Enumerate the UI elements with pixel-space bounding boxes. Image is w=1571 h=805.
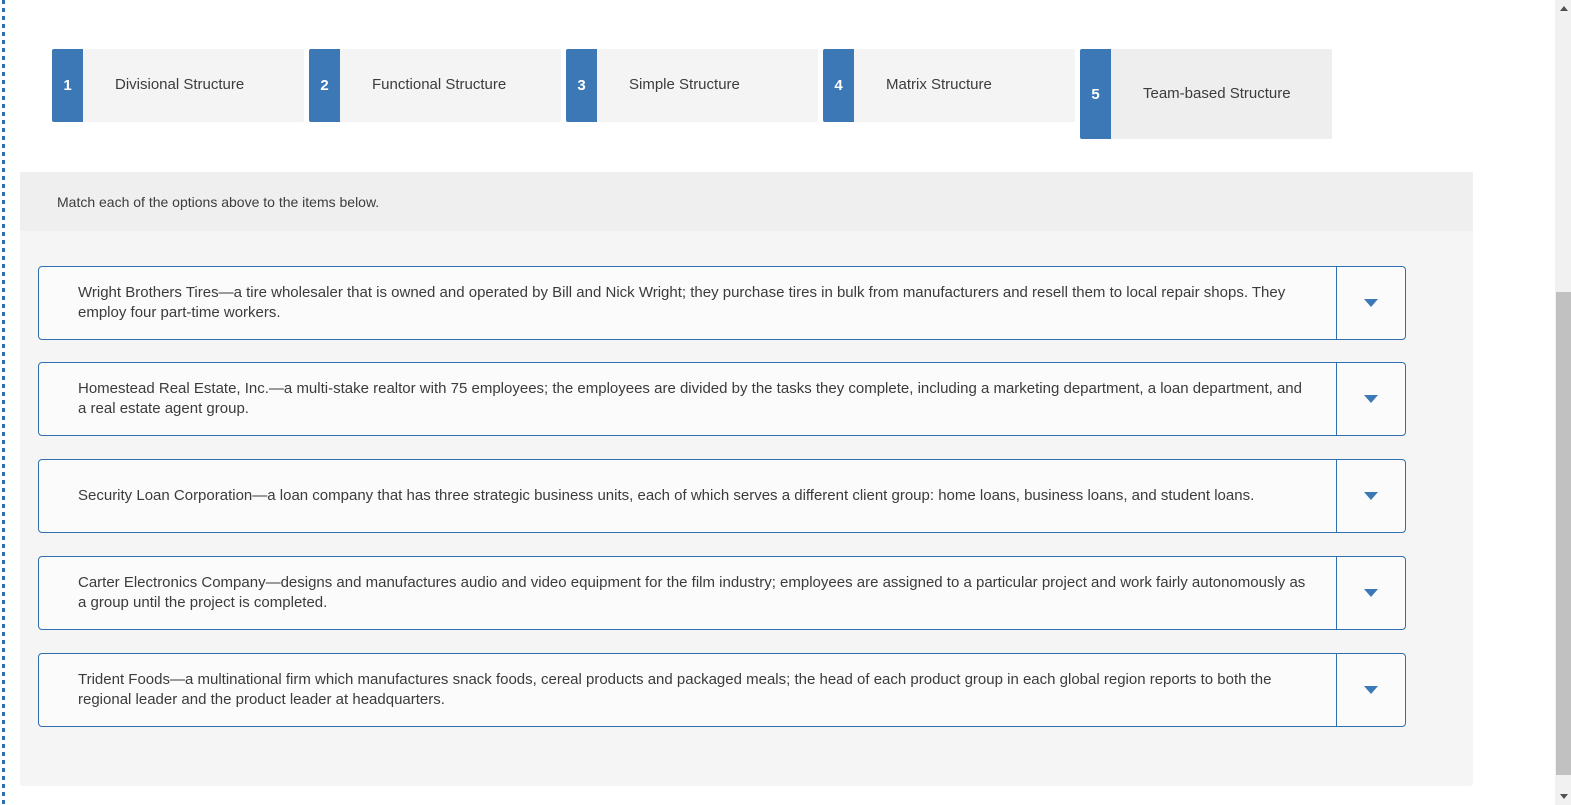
options-strip: 1 Divisional Structure 2 Functional Stru… (52, 49, 1352, 139)
triangle-up-icon (1560, 6, 1568, 11)
option-label-2: Functional Structure (340, 49, 561, 122)
table-row[interactable]: Homestead Real Estate, Inc.—a multi-stak… (38, 362, 1406, 436)
matching-items-panel: Wright Brothers Tires—a tire wholesaler … (20, 231, 1473, 786)
option-chip-1[interactable]: 1 Divisional Structure (52, 49, 304, 122)
option-label-3: Simple Structure (597, 49, 818, 122)
match-dropdown-3[interactable] (1337, 460, 1405, 532)
option-number-badge-5: 5 (1080, 49, 1111, 139)
option-label-5: Team-based Structure (1111, 49, 1332, 139)
match-item-text: Carter Electronics Company—designs and m… (39, 557, 1337, 629)
instruction-text: Match each of the options above to the i… (20, 194, 379, 210)
table-row[interactable]: Trident Foods—a multinational firm which… (38, 653, 1406, 727)
chevron-down-icon (1364, 395, 1378, 403)
match-dropdown-1[interactable] (1337, 267, 1405, 339)
chevron-down-icon (1364, 589, 1378, 597)
option-chip-5[interactable]: 5 Team-based Structure (1080, 49, 1332, 139)
chevron-down-icon (1364, 299, 1378, 307)
option-number-badge-2: 2 (309, 49, 340, 122)
match-dropdown-2[interactable] (1337, 363, 1405, 435)
option-chip-4[interactable]: 4 Matrix Structure (823, 49, 1075, 122)
focus-indicator-rail (2, 0, 5, 805)
match-item-text: Wright Brothers Tires—a tire wholesaler … (39, 267, 1337, 339)
table-row[interactable]: Security Loan Corporation—a loan company… (38, 459, 1406, 533)
chevron-down-icon (1364, 492, 1378, 500)
match-item-text: Security Loan Corporation—a loan company… (39, 460, 1337, 532)
option-number-badge-4: 4 (823, 49, 854, 122)
match-item-text: Homestead Real Estate, Inc.—a multi-stak… (39, 363, 1337, 435)
option-number-badge-3: 3 (566, 49, 597, 122)
option-label-4: Matrix Structure (854, 49, 1075, 122)
option-chip-3[interactable]: 3 Simple Structure (566, 49, 818, 122)
match-dropdown-4[interactable] (1337, 557, 1405, 629)
triangle-down-icon (1560, 794, 1568, 799)
match-dropdown-5[interactable] (1337, 654, 1405, 726)
scroll-down-arrow-icon[interactable] (1555, 788, 1571, 805)
vertical-scrollbar[interactable] (1554, 0, 1571, 805)
table-row[interactable]: Wright Brothers Tires—a tire wholesaler … (38, 266, 1406, 340)
match-item-text: Trident Foods—a multinational firm which… (39, 654, 1337, 726)
table-row[interactable]: Carter Electronics Company—designs and m… (38, 556, 1406, 630)
instruction-bar: Match each of the options above to the i… (20, 172, 1473, 231)
scrollbar-thumb[interactable] (1556, 292, 1571, 775)
question-page: 1 Divisional Structure 2 Functional Stru… (0, 0, 1545, 805)
option-label-1: Divisional Structure (83, 49, 304, 122)
scroll-up-arrow-icon[interactable] (1555, 0, 1571, 17)
chevron-down-icon (1364, 686, 1378, 694)
option-number-badge-1: 1 (52, 49, 83, 122)
option-chip-2[interactable]: 2 Functional Structure (309, 49, 561, 122)
